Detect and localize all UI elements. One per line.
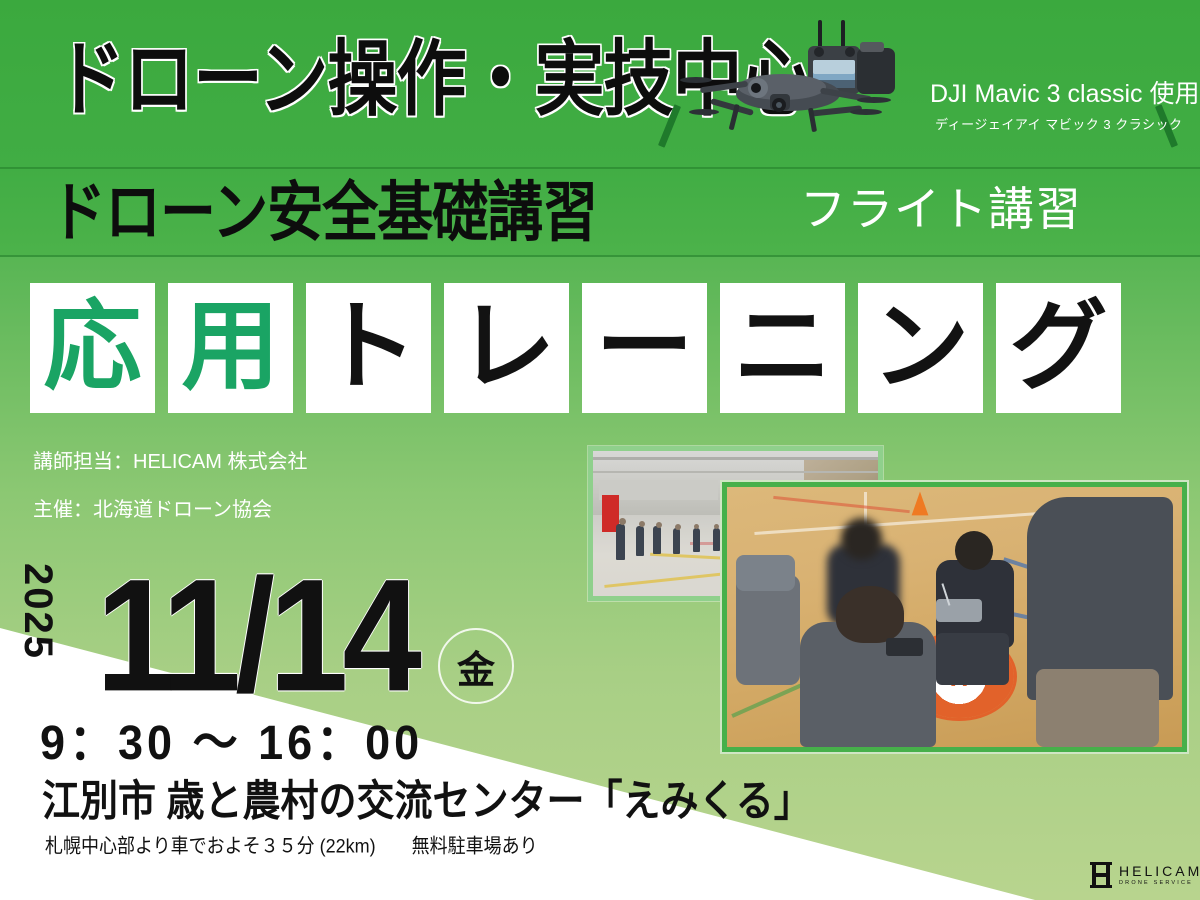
title-tile-char: ト <box>319 297 417 395</box>
band-divider-bottom <box>0 255 1200 257</box>
title-tile-char: レ <box>457 297 555 395</box>
headline-course-name: ドローン安全基礎講習 <box>50 180 597 245</box>
event-time: 9：30 ～ 16：00 <box>40 718 423 767</box>
helicam-monogram-icon <box>1090 862 1112 888</box>
credit-organizer: 主催：北海道ドローン協会 <box>33 500 272 520</box>
title-tile: レ <box>444 283 569 413</box>
poster-canvas: ドローン操作・実技中心 <box>0 0 1200 900</box>
title-tile: ニ <box>720 283 845 413</box>
event-venue: 江別市 歳と農村の交流センター「えみくる」 <box>42 781 812 824</box>
photo-drone-briefing: H <box>722 482 1187 752</box>
title-tile: ン <box>858 283 983 413</box>
event-year: 2025 <box>18 563 58 660</box>
event-access-note: 札幌中心部より車でおよそ３５分 (22km) 無料駐車場あり <box>45 836 538 856</box>
helicam-logo-tagline: DRONE SERVICE <box>1119 881 1200 887</box>
person-left <box>736 575 800 684</box>
title-tile: 応 <box>30 283 155 413</box>
title-tile-char: 用 <box>181 297 279 395</box>
drone-model-furigana: ディージェイアイ マビック 3 クラシック <box>935 118 1175 131</box>
drone-icon <box>660 8 960 158</box>
title-tile: 用 <box>168 283 293 413</box>
person-instructor-head <box>955 531 994 570</box>
drone-illustration <box>660 8 960 158</box>
headline-flight-training: フライト講習 <box>800 186 1082 232</box>
helicam-logo: HELICAM DRONE SERVICE <box>1090 862 1200 888</box>
title-tile: ト <box>306 283 431 413</box>
title-tile-char: グ <box>1009 297 1107 395</box>
title-tile-char: ン <box>871 297 969 395</box>
event-date: 11/14 <box>96 556 416 716</box>
event-day-of-week-badge: 金 <box>438 628 514 704</box>
title-tile: グ <box>996 283 1121 413</box>
title-tile-char: 応 <box>43 297 141 395</box>
helicam-logo-name: HELICAM <box>1119 864 1200 878</box>
title-tile: ー <box>582 283 707 413</box>
helicam-logo-text: HELICAM DRONE SERVICE <box>1119 864 1200 887</box>
title-tile-row: 応 用 ト レ ー ニ ン グ <box>30 283 1121 413</box>
drone-model-label: DJI Mavic 3 classic 使用 <box>930 82 1180 107</box>
title-tile-char: ー <box>595 297 693 395</box>
title-tile-char: ニ <box>733 297 831 395</box>
photo-drone-briefing-content: H <box>727 487 1182 747</box>
credit-instructor: 講師担当：HELICAM 株式会社 <box>33 452 307 472</box>
